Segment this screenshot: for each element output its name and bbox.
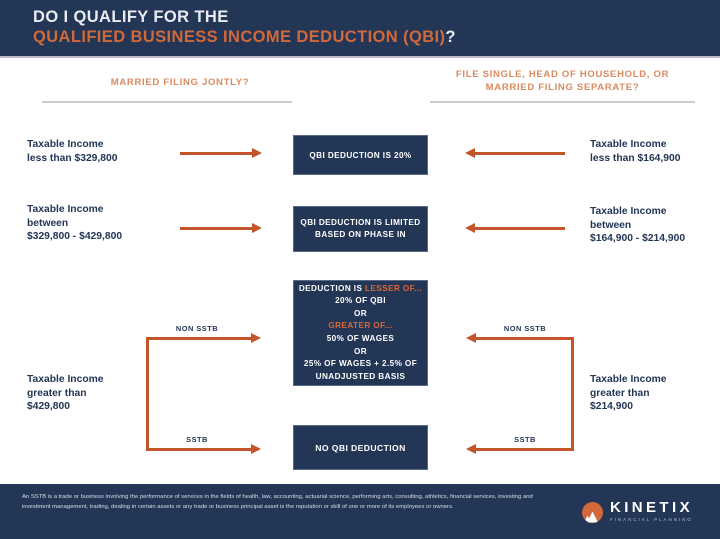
right-branch-1-line-2: less than $164,900 [590,152,720,166]
left-branch-3-line-2: greater than [27,387,187,401]
left-branch-1-line-1: Taxable Income [27,138,187,152]
left-bracket-bottom-arm [146,448,254,451]
outcome-box-3-row-3: OR [354,308,367,321]
left-branch-3-text: Taxable Income greater than $429,800 [27,373,187,414]
kinetix-logo-tagline: FINANCIAL PLANNING [610,516,693,524]
right-branch-3-text: Taxable Income greater than $214,900 [590,373,720,414]
outcome-box-3-row-8: UNADJUSTED BASIS [316,371,406,384]
right-bracket-vertical [571,337,574,451]
left-bracket-bottom-arrow-head-icon [251,444,261,454]
arrow-left-2-head-icon [252,223,262,233]
kinetix-logo-name: KINETIX [610,500,693,515]
kinetix-logo-text: KINETIX FINANCIAL PLANNING [610,500,693,524]
kinetix-flame-icon [582,502,603,523]
page-title-question-mark: ? [445,28,455,46]
outcome-box-1-label: QBI DEDUCTION IS 20% [309,151,411,160]
outcome-box-qbi-20-percent: QBI DEDUCTION IS 20% [293,135,428,175]
page-title-line-2: QUALIFIED BUSINESS INCOME DEDUCTION (QBI… [33,27,456,47]
column-heading-left-underline [42,101,292,103]
right-bracket-bottom-arrow-head-icon [466,444,476,454]
left-branch-2-line-1: Taxable Income [27,203,187,217]
right-branch-3-line-1: Taxable Income [590,373,720,387]
kinetix-logo: KINETIX FINANCIAL PLANNING [582,500,693,524]
outcome-box-3-greater-of-highlight: GREATER OF... [328,320,392,333]
right-branch-3-line-2: greater than [590,387,720,401]
arrow-left-2-shaft [180,227,255,230]
left-branch-2-text: Taxable Income between $329,800 - $429,8… [27,203,187,244]
left-bracket-top-arm [146,337,254,340]
left-branch-3-line-1: Taxable Income [27,373,187,387]
outcome-box-3-row-2: 20% OF QBI [335,295,386,308]
column-heading-right-underline [430,101,695,103]
outcome-box-3-row-1-prefix: DEDUCTION IS [299,284,365,293]
right-branch-3-line-3: $214,900 [590,400,720,414]
page-title-line-2-text: QUALIFIED BUSINESS INCOME DEDUCTION (QBI… [33,28,445,46]
right-branch-label-sstb: SSTB [480,435,570,444]
arrow-right-2-shaft [475,227,565,230]
right-branch-2-text: Taxable Income between $164,900 - $214,9… [590,205,720,246]
left-branch-1-text: Taxable Income less than $329,800 [27,138,187,165]
left-bracket-top-arrow-head-icon [251,333,261,343]
right-bracket-bottom-arm [476,448,573,451]
outcome-box-3-lesser-of-highlight: LESSER OF... [365,284,422,293]
header-divider [0,56,720,58]
outcome-box-no-qbi-deduction: NO QBI DEDUCTION [293,425,428,470]
column-heading-left: MARRIED FILING JONTLY? [60,76,300,89]
outcome-box-3-row-7: 25% OF WAGES + 2.5% OF [304,358,417,371]
column-heading-right: FILE SINGLE, HEAD OF HOUSEHOLD, OR MARRI… [425,68,700,94]
arrow-right-1-shaft [475,152,565,155]
left-branch-label-sstb: SSTB [152,435,242,444]
outcome-box-4-label: NO QBI DEDUCTION [315,443,405,453]
arrow-right-1-head-icon [465,148,475,158]
right-branch-1-line-1: Taxable Income [590,138,720,152]
arrow-right-2-head-icon [465,223,475,233]
left-branch-2-line-2: between [27,217,187,231]
left-branch-2-line-3: $329,800 - $429,800 [27,230,187,244]
outcome-box-limited-phase-in: QBI DEDUCTION IS LIMITED BASED ON PHASE … [293,206,428,252]
arrow-left-1-head-icon [252,148,262,158]
right-branch-label-non-sstb: NON SSTB [480,324,570,333]
outcome-box-2-line-1: QBI DEDUCTION IS LIMITED [300,217,420,229]
footer-disclaimer-text: An SSTB is a trade or business involving… [22,493,562,512]
left-branch-1-line-2: less than $329,800 [27,152,187,166]
arrow-left-1-shaft [180,152,255,155]
outcome-box-3-row-6: OR [354,346,367,359]
right-branch-2-line-2: between [590,219,720,233]
outcome-box-2-line-2: BASED ON PHASE IN [300,229,420,241]
column-heading-right-line-1: FILE SINGLE, HEAD OF HOUSEHOLD, OR [425,68,700,81]
column-heading-right-line-2: MARRIED FILING SEPARATE? [425,81,700,94]
right-bracket-top-arrow-head-icon [466,333,476,343]
outcome-box-3-row-1: DEDUCTION IS LESSER OF... [299,283,422,296]
outcome-box-3-row-5: 50% OF WAGES [327,333,395,346]
left-branch-label-non-sstb: NON SSTB [152,324,242,333]
left-branch-3-line-3: $429,800 [27,400,187,414]
header-title-group: DO I QUALIFY FOR THE QUALIFIED BUSINESS … [33,8,456,47]
infographic-page: DO I QUALIFY FOR THE QUALIFIED BUSINESS … [0,0,720,539]
right-branch-2-line-3: $164,900 - $214,900 [590,232,720,246]
header-banner: DO I QUALIFY FOR THE QUALIFIED BUSINESS … [0,0,720,58]
outcome-box-lesser-greater-of: DEDUCTION IS LESSER OF... 20% OF QBI OR … [293,280,428,386]
page-title-line-1: DO I QUALIFY FOR THE [33,8,456,27]
left-bracket-vertical [146,337,149,451]
right-bracket-top-arm [476,337,573,340]
right-branch-1-text: Taxable Income less than $164,900 [590,138,720,165]
right-branch-2-line-1: Taxable Income [590,205,720,219]
